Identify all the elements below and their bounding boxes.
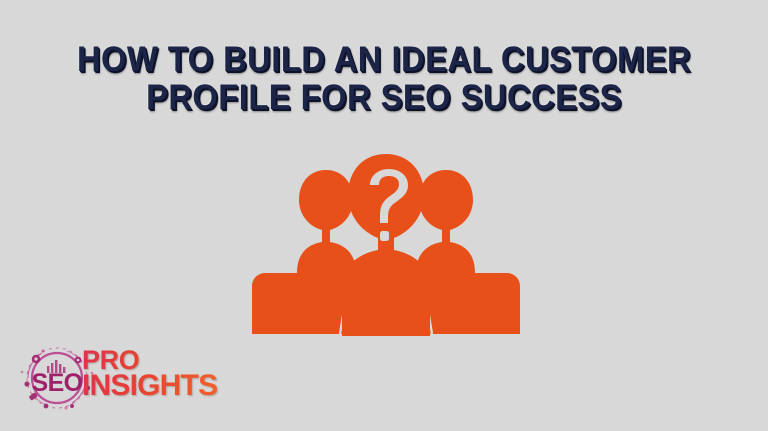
page-title-line-1: How To Build An Ideal Customer [27, 42, 741, 77]
person-silhouette-center [342, 154, 430, 336]
page-title: How To Build An Ideal Customer Profile F… [0, 42, 768, 115]
person-silhouette-left [252, 170, 356, 334]
banner-image: How To Build An Ideal Customer Profile F… [0, 0, 768, 431]
page-title-line-2: Profile For SEO Success [27, 80, 741, 115]
three-people-question-mark-graphic [252, 152, 520, 336]
seo-pro-insights-logo: SEO Pro Insights [16, 339, 226, 415]
seo-badge-text: SEO [32, 369, 83, 397]
logo-wordmark: Pro Insights [82, 349, 228, 399]
person-silhouette-right [416, 170, 520, 334]
logo-word-insights: Insights [82, 373, 228, 399]
